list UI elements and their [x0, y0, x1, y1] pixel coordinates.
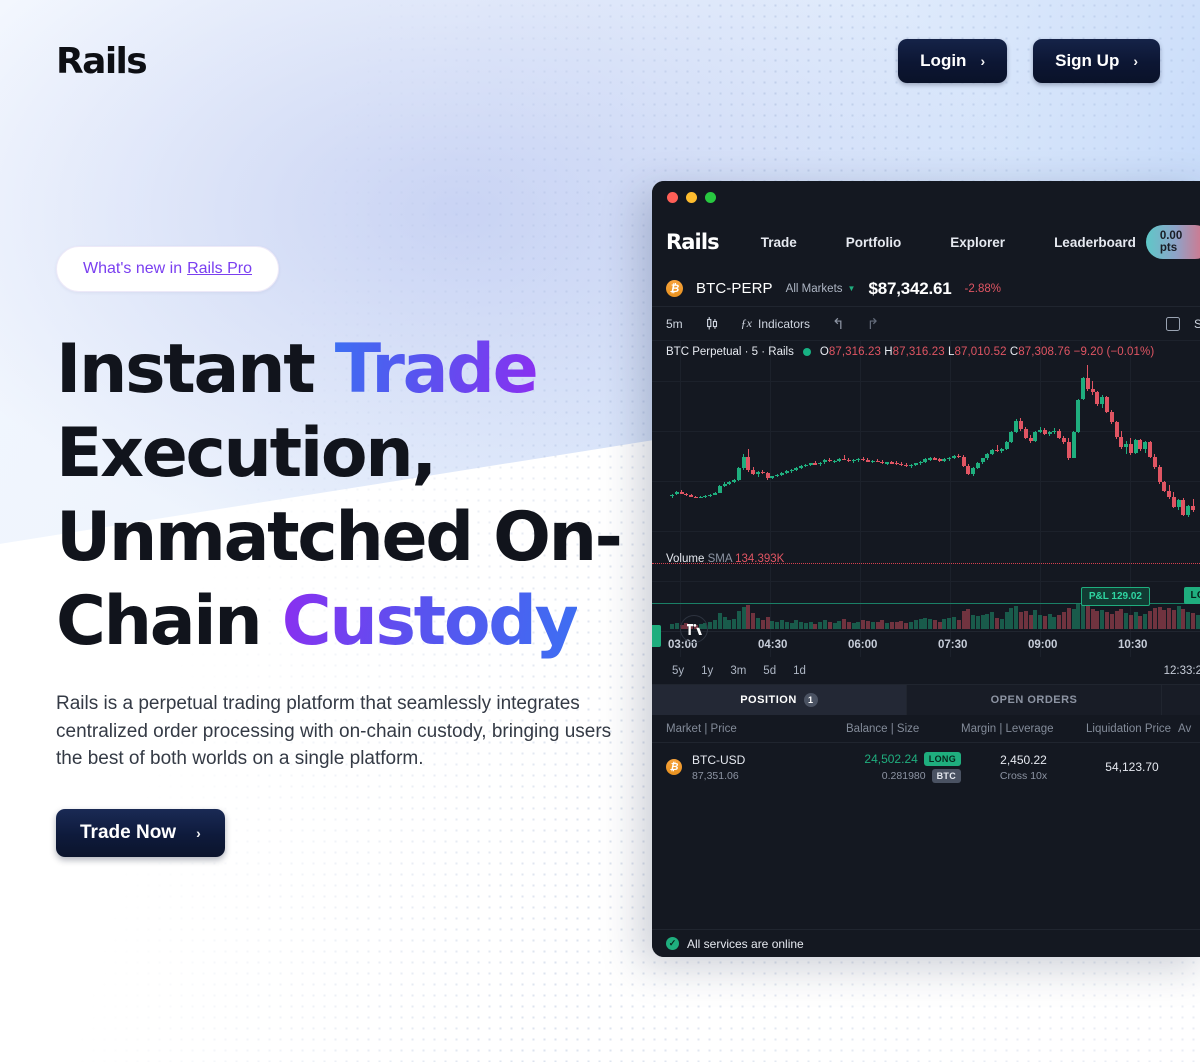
volume-bar — [1138, 616, 1142, 629]
column-balance-size: Balance | Size — [846, 723, 961, 735]
volume-bar — [761, 620, 765, 629]
column-avg: Av — [1178, 723, 1191, 735]
volume-bar — [1148, 611, 1152, 629]
candlestick-series — [670, 359, 1200, 539]
volume-bar — [1172, 610, 1176, 629]
title-line2: Execution, — [56, 414, 435, 493]
volume-bar — [770, 621, 774, 629]
volume-bar — [727, 620, 731, 629]
volume-bar — [708, 622, 712, 629]
row-asset-badge: BTC — [932, 769, 961, 783]
volume-bar — [842, 619, 846, 629]
ohlc-delta: −9.20 (−0.01%) — [1074, 346, 1155, 358]
undo-icon[interactable]: ↰ — [832, 315, 845, 333]
window-titlebar — [652, 181, 1200, 213]
range-1y[interactable]: 1y — [701, 665, 713, 677]
hero-subtitle: Rails is a perpetual trading platform th… — [56, 690, 622, 773]
tab-position-label: POSITION — [740, 694, 797, 706]
row-margin: 2,450.22 — [1000, 753, 1047, 767]
market-symbol[interactable]: BTC-PERP — [696, 280, 773, 297]
volume-bar — [1186, 612, 1190, 629]
volume-bar — [742, 607, 746, 629]
row-size: 0.281980 — [882, 770, 926, 782]
volume-bar — [1019, 612, 1023, 629]
long-position-badge: LO — [1184, 587, 1200, 604]
title-line4-highlight: Custody — [282, 582, 577, 661]
volume-bar — [1191, 613, 1195, 629]
volume-bar — [732, 619, 736, 629]
trade-now-label: Trade Now — [80, 822, 176, 844]
volume-bar — [751, 613, 755, 629]
volume-bar — [871, 622, 875, 629]
volume-bar — [1143, 614, 1147, 629]
chevron-down-icon: ▼ — [848, 284, 856, 293]
indicators-button[interactable]: ƒx Indicators — [741, 316, 810, 331]
volume-bar — [1062, 612, 1066, 629]
volume-bar — [670, 624, 674, 629]
volume-bar — [1100, 610, 1104, 629]
whats-new-prefix: What's new in — [83, 260, 182, 278]
signup-label: Sign Up — [1055, 51, 1119, 71]
column-margin-leverage: Margin | Leverage — [961, 723, 1086, 735]
positions-tabs: POSITION 1 OPEN ORDERS — [652, 685, 1200, 715]
pnl-badge: P&L 129.02 — [1081, 587, 1150, 606]
volume-bar — [1110, 614, 1114, 629]
row-balance: 24,502.24 — [864, 752, 917, 766]
ohlc-close-label: C — [1010, 346, 1018, 358]
column-liquidation-price: Liquidation Price — [1086, 723, 1178, 735]
window-minimize-icon[interactable] — [686, 192, 697, 203]
volume-bar — [976, 616, 980, 629]
volume-bar — [828, 622, 832, 629]
ohlc-open-value: 87,316.23 — [829, 346, 881, 358]
ohlc-high-value: 87,316.23 — [893, 346, 945, 358]
row-price: 87,351.06 — [692, 770, 745, 782]
volume-legend: Volume SMA 134.393K — [666, 553, 784, 565]
tab-open-orders-label: OPEN ORDERS — [991, 694, 1078, 706]
volume-bar — [1105, 612, 1109, 629]
volume-bar — [1076, 604, 1080, 629]
range-5d[interactable]: 5d — [763, 665, 776, 677]
ohlc-open-label: O — [820, 346, 829, 358]
volume-bar — [880, 620, 884, 629]
volume-bar — [966, 609, 970, 629]
volume-bar — [995, 618, 999, 629]
volume-bar — [1167, 608, 1171, 629]
ohlc-legend: BTC Perpetual · 5 · Rails O87,316.23 H87… — [666, 346, 1154, 358]
volume-bar — [1029, 615, 1033, 629]
volume-bar — [1052, 617, 1056, 629]
volume-bar — [756, 618, 760, 629]
indicators-label: Indicators — [758, 317, 810, 331]
market-change-percent: -2.88% — [965, 283, 1001, 295]
current-price-marker — [652, 625, 661, 647]
check-circle-icon: ✓ — [666, 937, 679, 950]
bitcoin-icon: ₿ — [666, 759, 682, 775]
volume-bar — [856, 622, 860, 629]
volume-bar — [1014, 606, 1018, 629]
volume-bar — [962, 611, 966, 629]
volume-bar — [904, 623, 908, 629]
volume-bar — [866, 621, 870, 629]
tab-position[interactable]: POSITION 1 — [652, 685, 907, 715]
chart-clock: 12:33:2 — [1164, 665, 1200, 677]
volume-bar — [1134, 612, 1138, 629]
position-count-badge: 1 — [804, 693, 818, 707]
volume-bar — [885, 623, 889, 629]
range-5y[interactable]: 5y — [672, 665, 684, 677]
interval-selector[interactable]: 5m — [666, 317, 683, 331]
signup-button[interactable]: Sign Up › — [1033, 39, 1160, 83]
volume-bar — [818, 622, 822, 629]
volume-bar — [938, 622, 942, 629]
volume-bar — [746, 605, 750, 629]
chevron-right-icon: › — [196, 825, 201, 841]
window-close-icon[interactable] — [667, 192, 678, 203]
title-line3: Unmatched On- — [56, 498, 621, 577]
brand-logo[interactable]: Rails — [56, 41, 146, 82]
volume-bar — [794, 620, 798, 629]
volume-bar — [737, 611, 741, 629]
chart-legend-title: BTC Perpetual · 5 · Rails — [666, 346, 794, 358]
fullscreen-icon[interactable] — [1166, 317, 1180, 331]
volume-bar — [876, 622, 880, 629]
time-range-bar: 5y 1y 3m 5d 1d 12:33:2 — [652, 657, 1200, 685]
column-market-price: Market | Price — [666, 723, 846, 735]
login-button[interactable]: Login › — [898, 39, 1007, 83]
whats-new-badge[interactable]: What's new in Rails Pro — [56, 246, 279, 292]
volume-bar — [1158, 607, 1162, 629]
volume-bar — [952, 617, 956, 629]
volume-bar — [985, 614, 989, 629]
row-liquidation: 54,123.70 — [1086, 760, 1178, 774]
title-line4-plain: Chain — [56, 582, 282, 661]
time-tick-3: 07:30 — [938, 639, 967, 651]
volume-bar — [785, 622, 789, 629]
chart-toolbar: 5m ƒx Indicators ↰ ↱ S — [652, 307, 1200, 341]
volume-bar — [1024, 611, 1028, 629]
nav-item-portfolio[interactable]: Portfolio — [846, 235, 902, 250]
ohlc-values: O87,316.23 H87,316.23 L87,010.52 C87,308… — [820, 346, 1154, 358]
redo-icon[interactable]: ↱ — [867, 315, 880, 333]
volume-value: 134.393K — [735, 553, 784, 565]
page-title: Instant Trade Execution, Unmatched On- C… — [56, 328, 676, 664]
trading-app-window: Rails Trade Portfolio Explorer Leaderboa… — [652, 181, 1200, 957]
volume-bar — [718, 613, 722, 629]
volume-bar — [775, 622, 779, 629]
market-price: $87,342.61 — [868, 279, 951, 299]
volume-bar — [923, 618, 927, 629]
volume-bar — [1153, 608, 1157, 629]
title-line1-plain: Instant — [56, 330, 335, 409]
nav-item-explorer[interactable]: Explorer — [950, 235, 1005, 250]
volume-bar — [1057, 615, 1061, 629]
volume-bar — [833, 623, 837, 629]
volume-bar — [1009, 608, 1013, 629]
all-markets-dropdown[interactable]: All Markets ▼ — [786, 283, 856, 295]
row-market: BTC-USD — [692, 753, 745, 767]
volume-bar — [1177, 606, 1181, 629]
range-3m[interactable]: 3m — [730, 665, 746, 677]
volume-label: Volume — [666, 553, 704, 565]
volume-sma-label: SMA — [708, 553, 732, 565]
site-header: Rails Login › Sign Up › — [0, 0, 1200, 122]
volume-bar — [675, 623, 679, 629]
volume-bar — [1086, 606, 1090, 629]
time-tick-1: 04:30 — [758, 639, 787, 651]
volume-bar — [1162, 610, 1166, 629]
volume-bar — [852, 623, 856, 629]
volume-bar — [1095, 611, 1099, 629]
volume-bar — [928, 619, 932, 629]
volume-bar — [813, 624, 817, 629]
volume-bar — [837, 621, 841, 629]
positions-table-header: Market | Price Balance | Size Margin | L… — [652, 715, 1200, 743]
range-1d[interactable]: 1d — [793, 665, 806, 677]
volume-bar — [1181, 609, 1185, 629]
app-logo[interactable]: Rails — [666, 230, 719, 254]
volume-bar — [861, 620, 865, 629]
market-bar: ₿ BTC-PERP All Markets ▼ $87,342.61 -2.8… — [652, 271, 1200, 307]
volume-bar — [723, 617, 727, 629]
volume-bar — [890, 622, 894, 629]
volume-bar — [1067, 608, 1071, 629]
tab-open-orders[interactable]: OPEN ORDERS — [907, 685, 1162, 715]
header-actions: Login › Sign Up › — [898, 39, 1160, 83]
volume-bar — [804, 623, 808, 629]
volume-bar — [766, 617, 770, 629]
nav-item-trade[interactable]: Trade — [761, 235, 797, 250]
row-side-badge: LONG — [924, 752, 961, 766]
volume-bar — [1033, 610, 1037, 629]
title-line1-highlight: Trade — [335, 330, 537, 409]
points-badge[interactable]: 0.00 pts — [1146, 225, 1200, 259]
volume-bar — [1048, 614, 1052, 629]
volume-bar — [914, 620, 918, 629]
login-label: Login — [920, 51, 966, 71]
volume-bar — [1005, 612, 1009, 629]
volume-bar — [1038, 615, 1042, 629]
rails-pro-link[interactable]: Rails Pro — [187, 260, 252, 278]
volume-bar — [1091, 609, 1095, 629]
volume-bar — [1196, 615, 1200, 629]
volume-bar — [947, 618, 951, 629]
price-chart[interactable]: BTC Perpetual · 5 · Rails O87,316.23 H87… — [652, 341, 1200, 657]
volume-bar — [1072, 609, 1076, 629]
volume-bar — [895, 622, 899, 629]
volume-bar — [933, 620, 937, 629]
ohlc-low-value: 87,010.52 — [955, 346, 1007, 358]
app-navigation: Rails Trade Portfolio Explorer Leaderboa… — [652, 213, 1200, 271]
volume-bar — [919, 619, 923, 629]
volume-bar — [823, 620, 827, 629]
volume-bar — [799, 622, 803, 629]
chevron-right-icon: › — [1133, 53, 1138, 69]
ohlc-high-label: H — [884, 346, 892, 358]
bitcoin-icon: ₿ — [666, 280, 683, 297]
volume-bar — [909, 622, 913, 629]
status-bar: ✓ All services are online — [652, 929, 1200, 957]
status-dot-icon — [803, 348, 811, 356]
row-leverage: Cross 10x — [1000, 770, 1047, 782]
function-icon: ƒx — [741, 316, 752, 331]
volume-bar — [780, 620, 784, 629]
time-tick-5: 10:30 — [1118, 639, 1147, 651]
volume-bar — [713, 620, 717, 629]
time-tick-2: 06:00 — [848, 639, 877, 651]
volume-bar — [1129, 615, 1133, 629]
candlestick-icon[interactable] — [705, 316, 719, 331]
volume-bar — [1119, 609, 1123, 629]
volume-bar — [1124, 613, 1128, 629]
status-text: All services are online — [687, 937, 804, 951]
hero-section: What's new in Rails Pro Instant Trade Ex… — [56, 246, 676, 857]
snapshot-button[interactable]: S — [1194, 317, 1200, 331]
table-row[interactable]: ₿ BTC-USD 87,351.06 24,502.24 LONG 0.281… — [652, 743, 1200, 791]
volume-bar — [981, 615, 985, 629]
nav-item-leaderboard[interactable]: Leaderboard — [1054, 235, 1136, 250]
window-maximize-icon[interactable] — [705, 192, 716, 203]
time-tick-4: 09:00 — [1028, 639, 1057, 651]
ohlc-close-value: 87,308.76 — [1018, 346, 1070, 358]
volume-bar — [847, 622, 851, 629]
volume-bar — [957, 620, 961, 629]
volume-bar — [971, 615, 975, 629]
chevron-right-icon: › — [980, 53, 985, 69]
volume-bar — [809, 622, 813, 629]
all-markets-label: All Markets — [786, 283, 843, 295]
volume-bar — [1000, 619, 1004, 629]
volume-bar — [942, 619, 946, 629]
tradingview-logo-icon[interactable] — [680, 615, 708, 643]
trade-now-button[interactable]: Trade Now › — [56, 809, 225, 857]
time-axis: 03:00 04:30 06:00 07:30 09:00 10:30 1 — [652, 631, 1200, 657]
volume-bar — [790, 623, 794, 629]
volume-bar — [990, 612, 994, 629]
volume-bar — [1043, 616, 1047, 629]
volume-bar — [899, 621, 903, 629]
volume-bar — [1115, 611, 1119, 629]
